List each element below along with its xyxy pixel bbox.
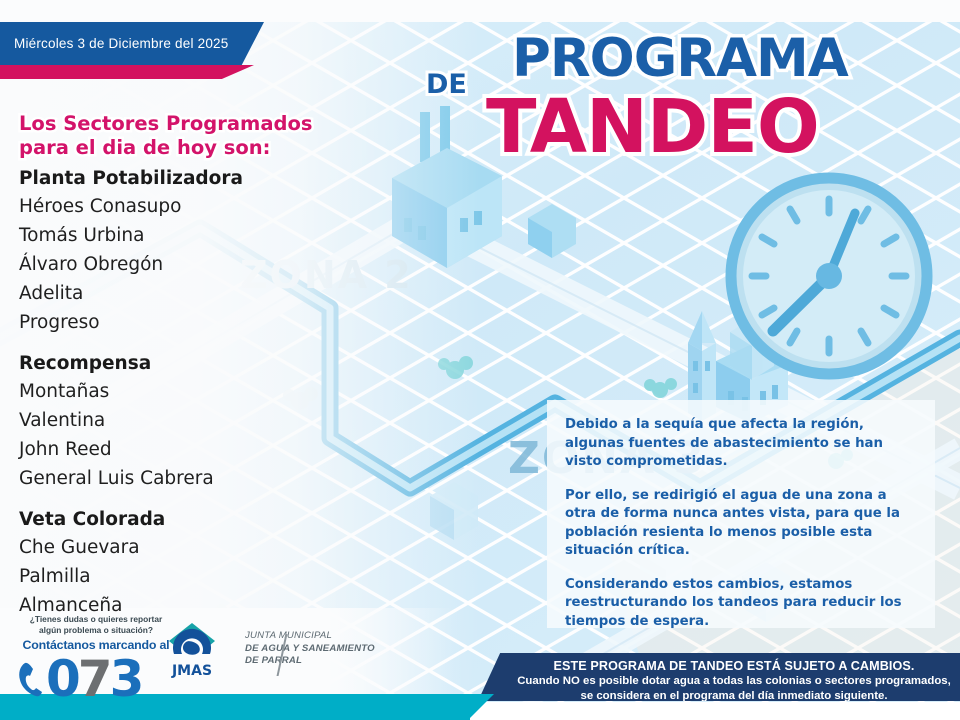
sector-group-title: Veta Colorada [19, 507, 349, 533]
sector-item: Héroes Conasupo [19, 192, 349, 221]
contact-question-line2: algún problema o situación? [6, 625, 186, 636]
date-banner-pink-accent [0, 65, 254, 79]
title-de: DE [426, 69, 467, 100]
title-tandeo: TANDEO [486, 84, 819, 170]
jmas-org-line3: DE PARRAL [245, 655, 375, 668]
info-paragraph: Debido a la sequía que afecta la región,… [565, 416, 919, 472]
sector-item: Adelita [19, 279, 349, 308]
sectors-heading: Los Sectores Programados para el dia de … [19, 112, 349, 160]
title-programa: PROGRAMA [512, 28, 848, 89]
sector-group-title: Recompensa [19, 351, 349, 377]
sector-item: Valentina [19, 406, 349, 435]
jmas-org-line2: DE AGUA Y SANEAMIENTO [245, 643, 375, 656]
phone-handset-icon [16, 657, 46, 701]
disclaimer-line2: Cuando NO es posible dotar agua a todas … [508, 674, 960, 689]
sector-item: Álvaro Obregón [19, 250, 349, 279]
sector-item: Palmilla [19, 562, 349, 591]
disclaimer-line3: se considera en el programa del día inme… [508, 689, 960, 704]
jmas-logo-icon: JMAS [162, 620, 222, 678]
disclaimer-line1: ESTE PROGRAMA DE TANDEO ESTÁ SUJETO A CA… [508, 658, 960, 674]
poster-title: DE PROGRAMA TANDEO [420, 14, 945, 174]
info-paragraph: Considerando estos cambios, estamos rees… [565, 576, 919, 632]
contact-question-line1: ¿Tienes dudas o quieres reportar [6, 614, 186, 625]
sector-item: General Luis Cabrera [19, 464, 349, 493]
phone-digit-0: 0 [46, 650, 78, 708]
sector-group: Planta Potabilizadora Héroes Conasupo To… [19, 166, 349, 337]
date-text: Miércoles 3 de Diciembre del 2025 [14, 36, 228, 51]
sectors-list: Los Sectores Programados para el dia de … [19, 112, 349, 634]
sectors-heading-line1: Los Sectores Programados [19, 112, 349, 136]
info-paragraph: Por ello, se redirigió el agua de una zo… [565, 487, 919, 561]
sector-item: John Reed [19, 435, 349, 464]
sector-item: Tomás Urbina [19, 221, 349, 250]
disclaimer-banner: ESTE PROGRAMA DE TANDEO ESTÁ SUJETO A CA… [478, 653, 960, 701]
sector-item: Montañas [19, 377, 349, 406]
sector-group-title: Planta Potabilizadora [19, 166, 349, 192]
date-banner: Miércoles 3 de Diciembre del 2025 [0, 22, 264, 65]
sector-item: Che Guevara [19, 533, 349, 562]
sector-item: Progreso [19, 308, 349, 337]
jmas-org-line1: JUNTA MUNICIPAL [245, 630, 375, 643]
clock-illustration [731, 178, 927, 374]
phone-digit-3: 3 [110, 650, 142, 708]
drought-info-box: Debido a la sequía que afecta la región,… [547, 400, 935, 628]
sector-group: Veta Colorada Che Guevara Palmilla Alman… [19, 507, 349, 620]
sectors-heading-line2: para el dia de hoy son: [19, 136, 349, 160]
jmas-acronym: JMAS [171, 663, 212, 678]
sector-group: Recompensa Montañas Valentina John Reed … [19, 351, 349, 493]
jmas-logo-block: JMAS JUNTA MUNICIPAL DE AGUA Y SANEAMIEN… [162, 620, 375, 678]
poster-canvas: ZONA 2 ZONA 3 Miércoles 3 de Diciembre d… [0, 0, 960, 720]
jmas-org-name: JUNTA MUNICIPAL DE AGUA Y SANEAMIENTO DE… [231, 630, 375, 668]
phone-digit-7: 7 [78, 650, 110, 708]
